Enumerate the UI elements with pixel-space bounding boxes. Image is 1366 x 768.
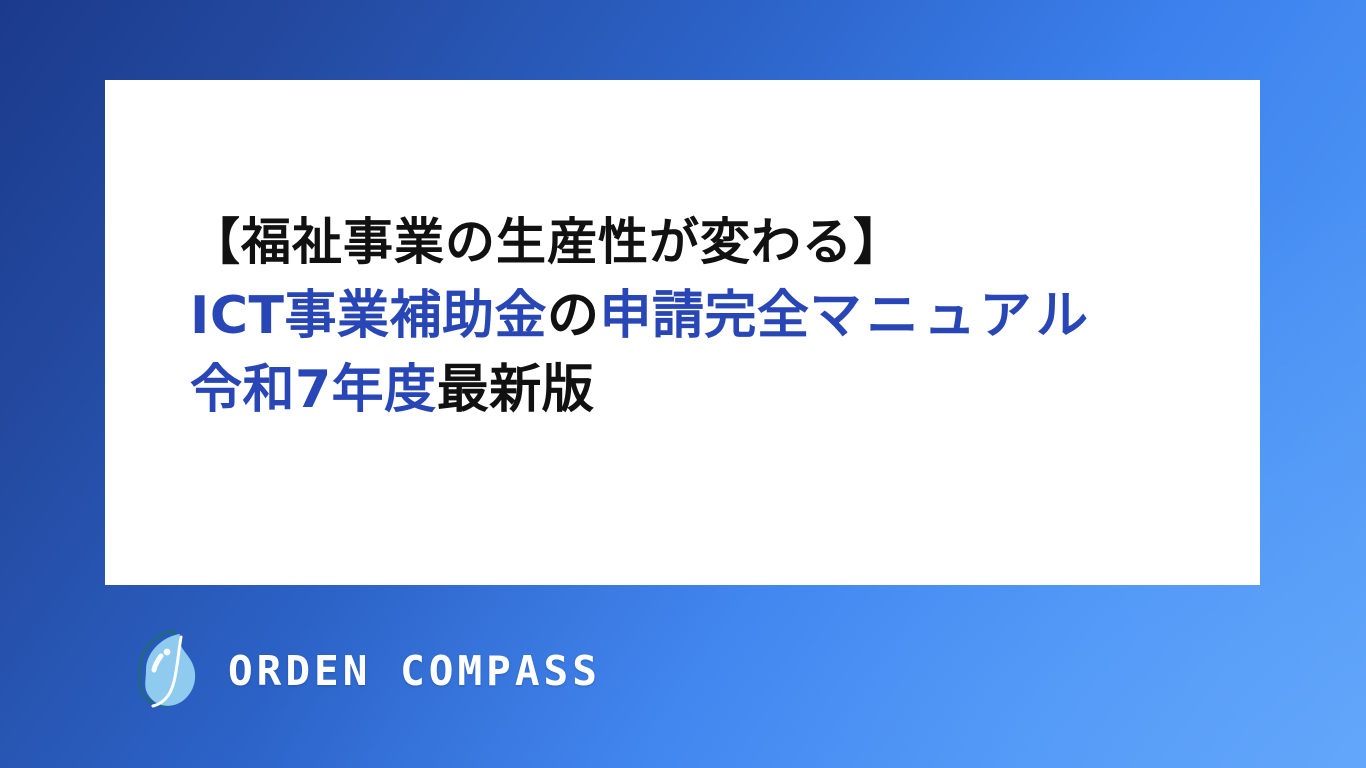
title-line-2: ICT事業補助金の申請完全マニュアル	[190, 279, 1200, 353]
title-line-1: 【福祉事業の生産性が変わる】	[190, 205, 1200, 279]
title-line-2-segment-1: ICT事業補助金	[190, 286, 547, 346]
title-line-2-segment-3: 申請完全	[600, 286, 810, 346]
slide-canvas: 【福祉事業の生産性が変わる】 ICT事業補助金の申請完全マニュアル 令和7年度最…	[0, 0, 1366, 768]
brand-lockup: ORDEN COMPASS	[128, 628, 601, 714]
title-line-1-segment-1: 【福祉事業の生産性が変わる】	[190, 213, 904, 271]
title-line-3: 令和7年度最新版	[190, 353, 1200, 427]
title-line-3-segment-1: 令和7年度	[190, 360, 437, 420]
title-line-2-segment-2: の	[547, 286, 600, 346]
title-block: 【福祉事業の生産性が変わる】 ICT事業補助金の申請完全マニュアル 令和7年度最…	[190, 205, 1200, 427]
title-line-3-segment-2: 最新版	[437, 360, 595, 420]
title-card: 【福祉事業の生産性が変わる】 ICT事業補助金の申請完全マニュアル 令和7年度最…	[105, 80, 1260, 585]
title-line-2-segment-4: マニュアル	[810, 286, 1093, 346]
brand-name: ORDEN COMPASS	[228, 651, 601, 692]
water-drop-leaf-icon	[128, 628, 206, 714]
